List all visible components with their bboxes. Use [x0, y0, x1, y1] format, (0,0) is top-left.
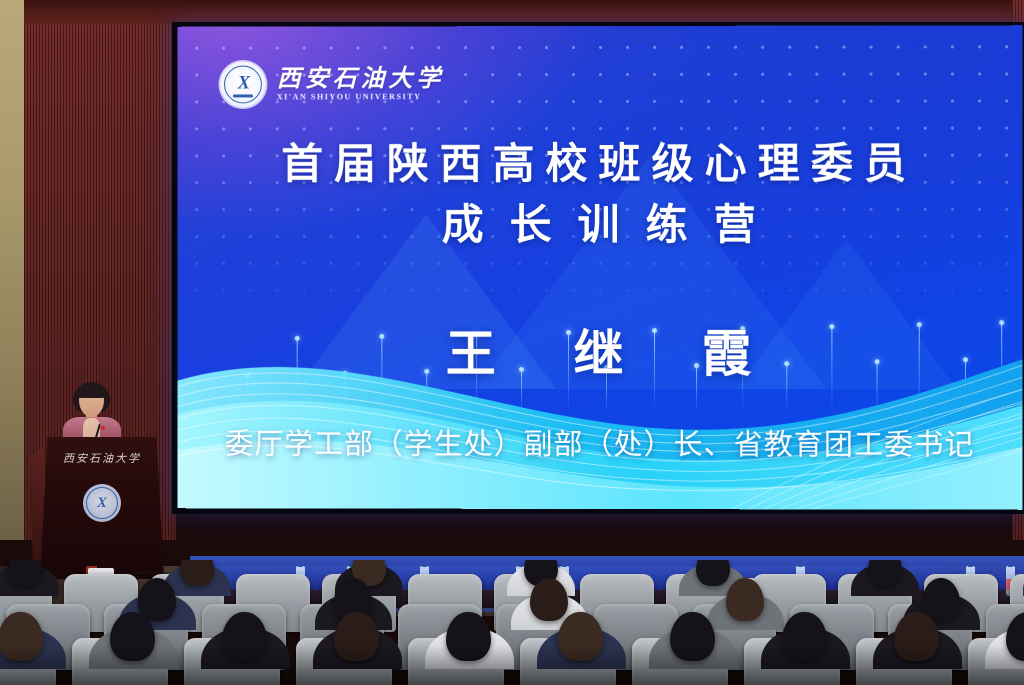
presenter: [57, 382, 127, 444]
emblem-glyph: X: [238, 73, 249, 95]
audience-shadow-overlay: [0, 645, 1024, 685]
auditorium-scene: X 西安石油大学 XI'AN SHIYOU UNIVERSITY 首届陕西高校班…: [0, 0, 1024, 685]
event-title-line2: 成长训练营: [177, 196, 1022, 253]
logo-text-english: XI'AN SHIYOU UNIVERSITY: [277, 92, 444, 101]
presenter-badge: [101, 426, 105, 430]
logo-text-chinese: 西安石油大学: [277, 67, 444, 91]
audience-person-head: [726, 578, 765, 621]
event-title-line1: 首届陕西高校班级心理委员: [177, 136, 1022, 193]
audience-person-head: [8, 560, 42, 586]
audience-person-head: [530, 578, 569, 621]
audience-person-head: [696, 560, 730, 586]
audience-person-head: [868, 560, 902, 586]
university-emblem-icon: X: [220, 62, 266, 108]
audience-area: [0, 560, 1024, 685]
speaker-title: 委厅学工部（学生处）副部（处）长、省教育团工委书记: [177, 421, 1022, 464]
university-logo: X 西安石油大学 XI'AN SHIYOU UNIVERSITY: [220, 61, 444, 107]
speaker-name: 王 继 霞: [177, 314, 1022, 387]
podium-label: 西安石油大学: [40, 450, 164, 466]
podium-emblem-icon: X: [83, 484, 121, 522]
audience-person-head: [180, 560, 214, 586]
led-screen-frame: X 西安石油大学 XI'AN SHIYOU UNIVERSITY 首届陕西高校班…: [172, 22, 1024, 514]
led-screen-display: X 西安石油大学 XI'AN SHIYOU UNIVERSITY 首届陕西高校班…: [177, 25, 1022, 510]
wall-left-beige-panel: [0, 0, 26, 540]
event-title: 首届陕西高校班级心理委员 成长训练营: [177, 136, 1022, 254]
wall-top-wood-strip: [24, 0, 1024, 24]
podium: 西安石油大学 X: [40, 437, 164, 579]
